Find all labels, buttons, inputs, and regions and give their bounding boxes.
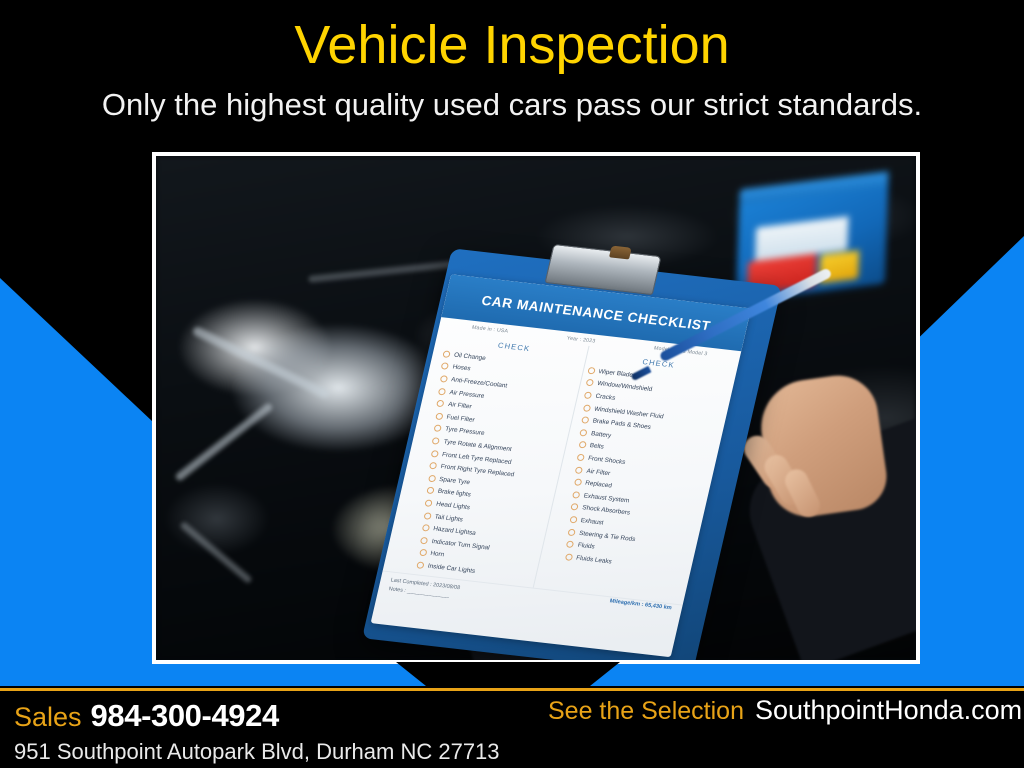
checklist-columns: CHECK Oil ChangeHosesAnti-Freeze/Coolant…	[383, 329, 739, 605]
checkbox-icon[interactable]	[429, 462, 438, 470]
checklist-item-label: Air Pressure	[449, 389, 485, 400]
checkbox-icon[interactable]	[587, 366, 596, 374]
checkbox-icon[interactable]	[575, 466, 584, 474]
checkbox-icon[interactable]	[432, 437, 441, 445]
page-title: Vehicle Inspection	[0, 14, 1024, 76]
checkbox-icon[interactable]	[584, 391, 593, 399]
checklist-item-label: Air Filter	[586, 467, 611, 476]
checkbox-icon[interactable]	[442, 350, 451, 358]
selection-callout: See the Selection SouthpointHonda.com	[548, 695, 1022, 726]
clipboard-knob-icon	[609, 245, 632, 259]
sales-phone-number[interactable]: 984-300-4924	[91, 698, 279, 734]
checklist-item-label: Oil Change	[453, 351, 486, 361]
checkbox-icon[interactable]	[441, 362, 450, 370]
checkbox-icon[interactable]	[423, 512, 432, 520]
checklist-item-label: Horn	[429, 550, 444, 558]
blue-accent-right	[904, 236, 1024, 670]
website-url[interactable]: SouthpointHonda.com	[755, 695, 1022, 726]
checkbox-icon[interactable]	[433, 425, 442, 433]
checkbox-icon[interactable]	[426, 487, 435, 495]
checkbox-icon[interactable]	[576, 453, 585, 461]
checklist-item-label: Belts	[589, 442, 605, 450]
checkbox-icon[interactable]	[578, 441, 587, 449]
checkbox-icon[interactable]	[421, 524, 430, 532]
checkbox-icon[interactable]	[566, 540, 575, 548]
checklist-item-label: Fluids Leaks	[575, 554, 612, 565]
checkbox-icon[interactable]	[439, 375, 448, 383]
checkbox-icon[interactable]	[436, 400, 445, 408]
checkbox-icon[interactable]	[420, 536, 429, 544]
checklist-item-label: Hoses	[452, 364, 471, 373]
inspection-photo-frame: CAR MAINTENANCE CHECKLIST Made in : USA …	[152, 152, 920, 664]
checkbox-icon[interactable]	[569, 516, 578, 524]
page-subtitle: Only the highest quality used cars pass …	[0, 86, 1024, 124]
contact-footer: Sales 984-300-4924 951 Southpoint Autopa…	[0, 691, 1024, 768]
checklist-item-label: Brake lights	[437, 488, 471, 499]
checkbox-icon[interactable]	[564, 553, 573, 561]
hand-holding-pen	[755, 370, 891, 521]
checkbox-icon[interactable]	[581, 416, 590, 424]
slide-canvas: Vehicle Inspection Only the highest qual…	[0, 0, 1024, 768]
checklist-item-label: Tail Lights	[434, 513, 464, 523]
checkbox-icon[interactable]	[430, 449, 439, 457]
checkbox-icon[interactable]	[416, 561, 425, 569]
checkbox-icon[interactable]	[585, 379, 594, 387]
checklist-item-label: Cracks	[595, 393, 616, 402]
checkbox-icon[interactable]	[579, 429, 588, 437]
checklist-item-label: Replaced	[584, 480, 612, 490]
checkbox-icon[interactable]	[572, 491, 581, 499]
checklist-item-label: Inside Car Lights	[427, 562, 476, 574]
checklist-item-label: Spare Tyre	[438, 476, 470, 486]
divider-notch	[390, 662, 626, 686]
checklist-item-label: Exhaust	[580, 517, 604, 526]
checkbox-icon[interactable]	[418, 549, 427, 557]
checkbox-icon[interactable]	[570, 503, 579, 511]
checklist-item-label: Front Shocks	[587, 455, 626, 466]
blue-accent-left	[0, 270, 170, 670]
checkbox-icon[interactable]	[573, 478, 582, 486]
sales-contact: Sales 984-300-4924	[14, 698, 279, 734]
inspection-photo: CAR MAINTENANCE CHECKLIST Made in : USA …	[156, 156, 916, 660]
checkbox-icon[interactable]	[438, 387, 447, 395]
checklist-item-label: Air Filter	[447, 401, 472, 410]
checklist-item-label: Head Lights	[435, 500, 470, 511]
checklist-item-label: Fuel Filter	[446, 413, 476, 423]
see-the-selection-label: See the Selection	[548, 697, 744, 726]
checklist-item-label: Fluids	[577, 542, 595, 551]
checkbox-icon[interactable]	[582, 404, 591, 412]
checkbox-icon[interactable]	[435, 412, 444, 420]
sales-label: Sales	[14, 702, 82, 733]
dealership-address: 951 Southpoint Autopark Blvd, Durham NC …	[14, 739, 500, 765]
checkbox-icon[interactable]	[567, 528, 576, 536]
checkbox-icon[interactable]	[427, 474, 436, 482]
checkbox-icon[interactable]	[424, 499, 433, 507]
checklist-item-label: Battery	[590, 430, 612, 439]
